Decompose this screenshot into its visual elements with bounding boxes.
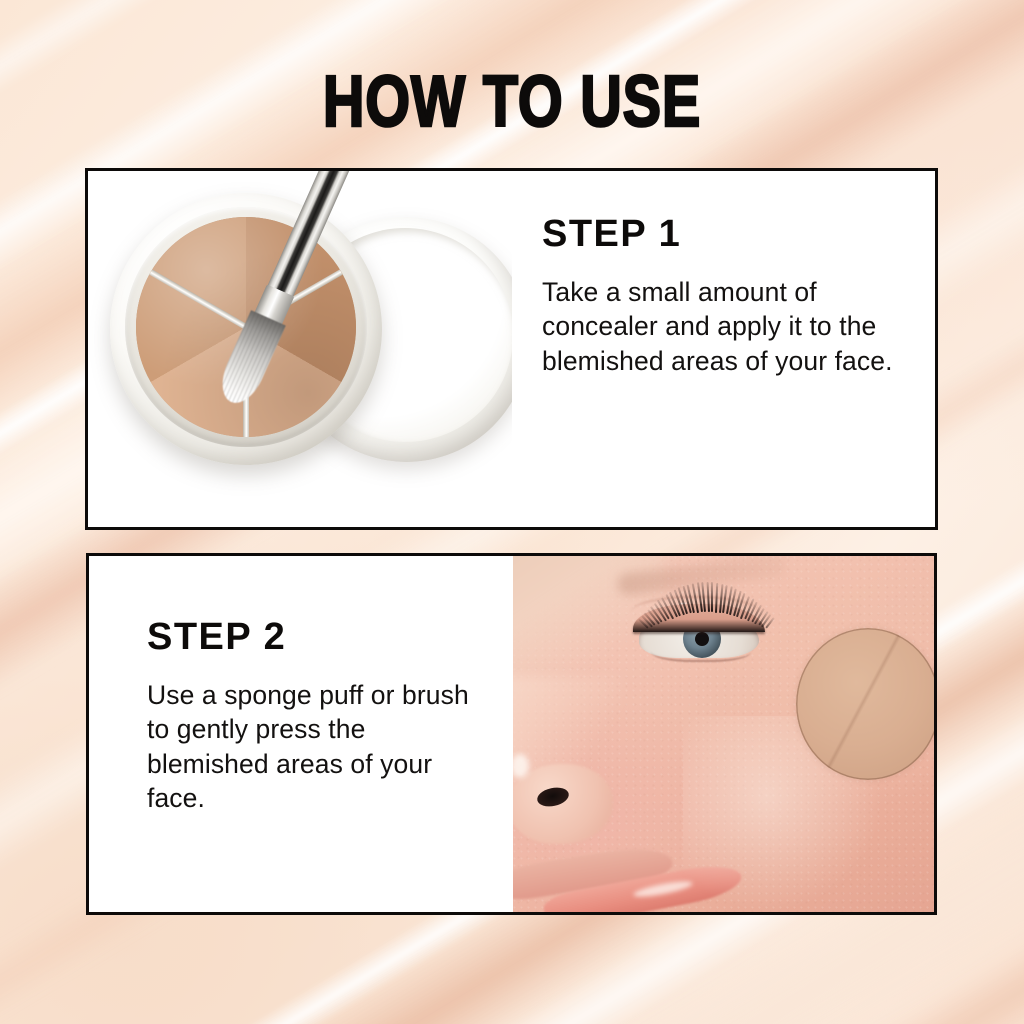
nose-tip <box>513 764 613 844</box>
step-2-text-pane: STEP 2 Use a sponge puff or brush to gen… <box>89 556 513 912</box>
model-face-with-concealer-swatch-image <box>513 556 934 912</box>
step-1-title: STEP 1 <box>542 215 905 253</box>
step-1-image-pane <box>88 171 512 527</box>
concealer-swatch <box>796 628 934 780</box>
concealer-palette-with-brush-image <box>88 171 512 527</box>
step-2-title: STEP 2 <box>147 618 487 656</box>
page-title: HOW TO USE <box>102 66 921 138</box>
step-1-card: STEP 1 Take a small amount of concealer … <box>85 168 938 530</box>
step-1-body: Take a small amount of concealer and app… <box>542 275 902 378</box>
eyelash-strand <box>715 583 718 613</box>
step-1-text-pane: STEP 1 Take a small amount of concealer … <box>512 171 935 527</box>
lower-lash-line <box>651 652 751 662</box>
step-2-card: STEP 2 Use a sponge puff or brush to gen… <box>86 553 937 915</box>
eye <box>629 596 779 668</box>
step-2-body: Use a sponge puff or brush to gently pre… <box>147 678 487 816</box>
step-2-image-pane <box>513 556 934 912</box>
eyelashes <box>643 592 771 632</box>
